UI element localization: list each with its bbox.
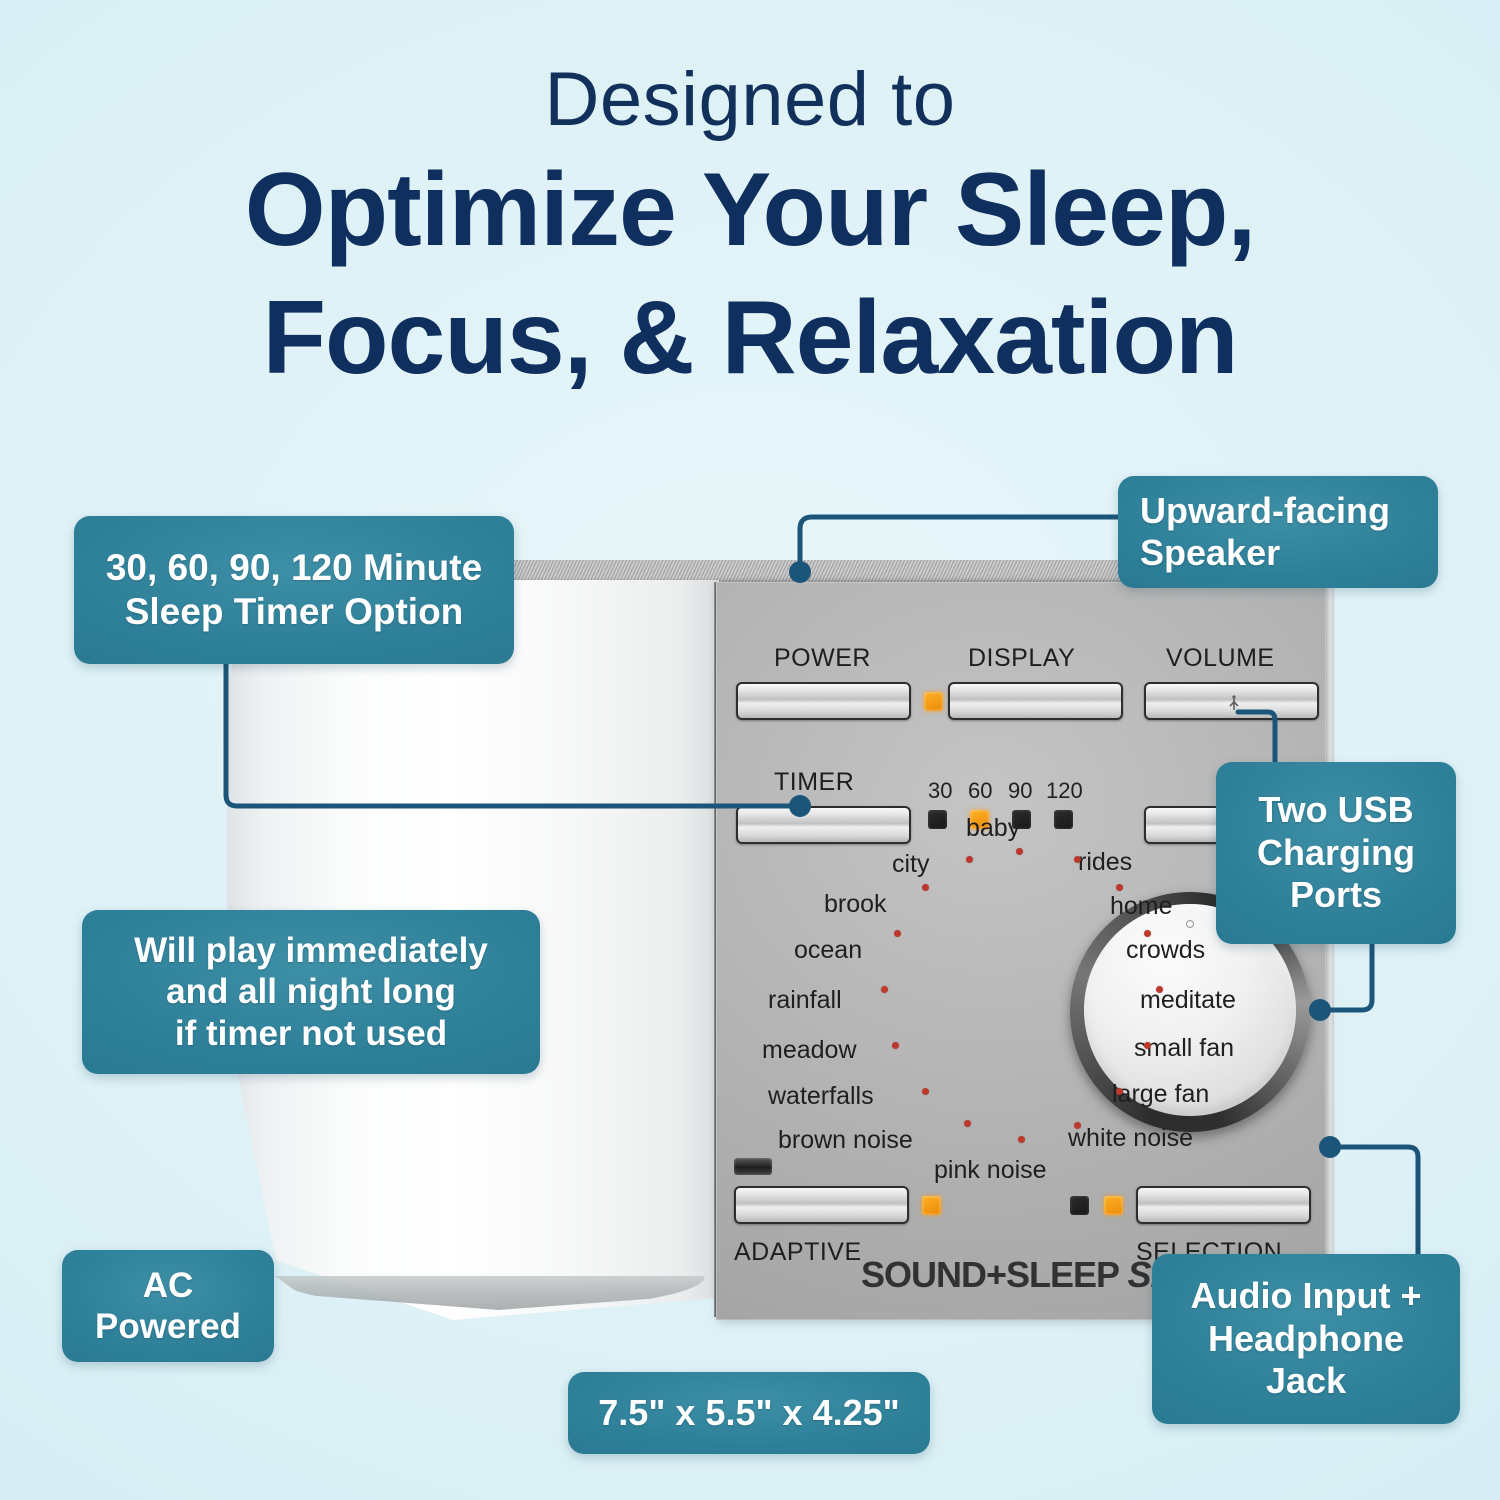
callout-dimensions-text: 7.5" x 5.5" x 4.25" xyxy=(598,1392,899,1434)
timer-led-120 xyxy=(1054,810,1073,829)
sound-dot xyxy=(922,884,929,891)
sound-label-waterfalls: waterfalls xyxy=(768,1082,874,1111)
callout-ac-powered[interactable]: AC Powered xyxy=(62,1250,274,1362)
headline-line-1: Designed to xyxy=(0,62,1500,138)
callout-dimensions[interactable]: 7.5" x 5.5" x 4.25" xyxy=(568,1372,930,1454)
callout-ac-powered-text: AC Powered xyxy=(95,1265,241,1348)
sound-dot xyxy=(1116,1088,1123,1095)
sound-label-ocean: ocean xyxy=(794,936,862,965)
control-panel: POWER DISPLAY VOLUME TIMER 30 60 90 120 xyxy=(716,582,1326,1320)
display-label: DISPLAY xyxy=(968,644,1075,673)
sound-dot xyxy=(966,856,973,863)
sound-label-baby: baby xyxy=(966,814,1020,843)
display-button[interactable] xyxy=(948,682,1123,720)
sound-dot xyxy=(894,930,901,937)
timer-tick-label-30: 30 xyxy=(928,778,952,804)
sound-label-brook: brook xyxy=(824,890,887,919)
power-led xyxy=(924,692,943,711)
sound-label-home: home xyxy=(1110,892,1173,921)
sound-label-rainfall: rainfall xyxy=(768,986,842,1015)
sound-dot xyxy=(892,1042,899,1049)
wire-audio-jack xyxy=(1330,1147,1418,1255)
power-button[interactable] xyxy=(736,682,911,720)
selection-led-right xyxy=(1104,1196,1123,1215)
timer-label: TIMER xyxy=(774,768,854,797)
sound-label-city: city xyxy=(892,850,930,879)
sound-label-white-noise: white noise xyxy=(1068,1124,1193,1153)
selection-button[interactable] xyxy=(1136,1186,1311,1224)
sound-label-pink-noise: pink noise xyxy=(934,1156,1047,1185)
callout-sleep-timer[interactable]: 30, 60, 90, 120 Minute Sleep Timer Optio… xyxy=(74,516,514,664)
sound-label-meditate: meditate xyxy=(1140,986,1236,1015)
power-label: POWER xyxy=(774,644,871,673)
brand-logo: SOUND+SLEEP SE xyxy=(861,1254,1173,1296)
callout-play-immediately-text: Will play immediately and all night long… xyxy=(134,930,488,1054)
sound-dot xyxy=(922,1088,929,1095)
callout-upward-speaker-text: Upward-facing Speaker xyxy=(1140,490,1416,575)
timer-button[interactable] xyxy=(736,806,911,844)
headline-block: Designed to Optimize Your Sleep, Focus, … xyxy=(0,62,1500,395)
callout-usb-ports[interactable]: Two USB Charging Ports xyxy=(1216,762,1456,944)
sound-label-large-fan: large fan xyxy=(1112,1080,1209,1109)
timer-tick-label-120: 120 xyxy=(1046,778,1083,804)
sound-dot xyxy=(1144,930,1151,937)
sound-dot xyxy=(1074,856,1081,863)
sound-dot xyxy=(964,1120,971,1127)
timer-led-30 xyxy=(928,810,947,829)
volume-up-button[interactable] xyxy=(1144,682,1319,720)
sound-dot xyxy=(1016,848,1023,855)
sound-dot xyxy=(1074,1122,1081,1129)
sound-label-rides: rides xyxy=(1078,848,1132,877)
sound-dot xyxy=(1156,986,1163,993)
callout-audio-jack-text: Audio Input + Headphone Jack xyxy=(1191,1275,1422,1402)
usb-plus-icon xyxy=(1224,694,1244,717)
timer-tick-label-90: 90 xyxy=(1008,778,1032,804)
dial-indicator-icon xyxy=(1186,920,1194,928)
sound-label-meadow: meadow xyxy=(762,1036,857,1065)
adaptive-switch[interactable] xyxy=(734,1158,772,1175)
device-base xyxy=(275,1276,705,1310)
headline-line-3: Focus, & Relaxation xyxy=(0,282,1500,394)
adaptive-led xyxy=(922,1196,941,1215)
adaptive-label: ADAPTIVE xyxy=(734,1238,862,1267)
callout-play-immediately[interactable]: Will play immediately and all night long… xyxy=(82,910,540,1074)
sound-label-crowds: crowds xyxy=(1126,936,1205,965)
selection-led-left xyxy=(1070,1196,1089,1215)
sound-dot xyxy=(1144,1042,1151,1049)
adaptive-button[interactable] xyxy=(734,1186,909,1224)
callout-audio-jack[interactable]: Audio Input + Headphone Jack xyxy=(1152,1254,1460,1424)
brand-main: SOUND+SLEEP xyxy=(861,1254,1118,1295)
headline-line-2: Optimize Your Sleep, xyxy=(0,154,1500,266)
sound-dot xyxy=(881,986,888,993)
volume-label: VOLUME xyxy=(1166,644,1275,673)
sound-dot xyxy=(1116,884,1123,891)
callout-sleep-timer-text: 30, 60, 90, 120 Minute Sleep Timer Optio… xyxy=(106,546,482,633)
callout-upward-speaker[interactable]: Upward-facing Speaker xyxy=(1118,476,1438,588)
timer-tick-label-60: 60 xyxy=(968,778,992,804)
callout-usb-ports-text: Two USB Charging Ports xyxy=(1257,789,1415,916)
sound-label-brown-noise: brown noise xyxy=(778,1126,913,1155)
sound-dot xyxy=(1018,1136,1025,1143)
